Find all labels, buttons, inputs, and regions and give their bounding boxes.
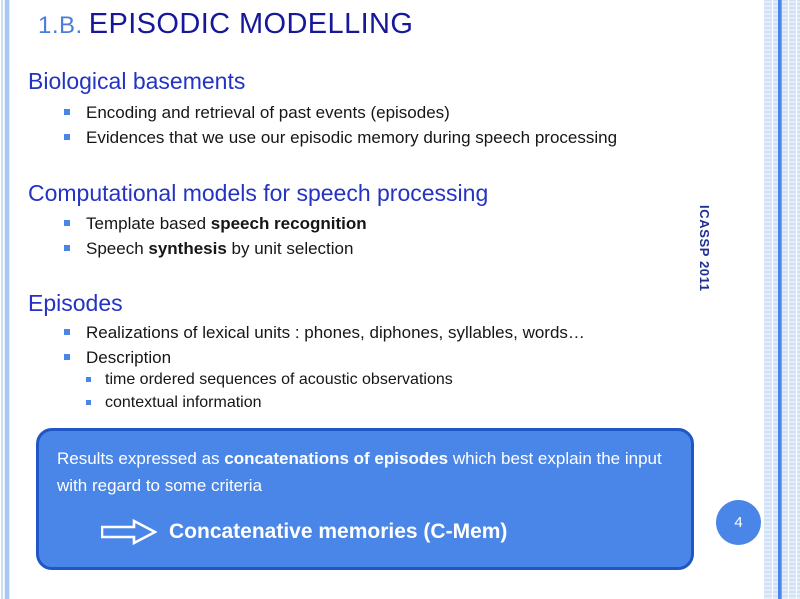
sub-list-item-label: contextual information: [105, 394, 262, 412]
bullet-square-icon: [64, 329, 70, 335]
stripe-4: [9, 0, 10, 599]
bullet-square-icon: [64, 220, 70, 226]
callout-body-text: Results expressed as concatenations of e…: [57, 445, 681, 499]
band-line-5: [796, 0, 797, 599]
callout-conclusion-row: Concatenative memories (C-Mem): [101, 519, 507, 545]
callout-text-prefix: Results expressed as: [57, 449, 224, 468]
list-item: Template based speech recognition: [64, 213, 367, 234]
band-line-4: [788, 0, 789, 599]
title-text: EPISODIC MODELLING: [89, 8, 414, 40]
bullet-square-icon: [64, 109, 70, 115]
bullet-square-icon: [64, 134, 70, 140]
list-item: Speech synthesis by unit selection: [64, 238, 353, 259]
page-title: 1.B.EPISODIC MODELLING: [38, 8, 413, 41]
right-block-arrow-icon: [101, 519, 157, 545]
band-line-3: [781, 0, 782, 599]
section-heading-biological: Biological basements: [28, 68, 245, 95]
list-item-label: Description: [86, 348, 171, 368]
sub-list-item: contextual information: [86, 394, 262, 412]
left-stripe-decoration: [0, 0, 12, 599]
section-heading-episodes: Episodes: [28, 290, 123, 317]
sub-list-item-label: time ordered sequences of acoustic obser…: [105, 371, 453, 389]
bullet-square-icon: [86, 377, 91, 382]
section-heading-computational: Computational models for speech processi…: [28, 180, 488, 207]
list-item-label: Realizations of lexical units : phones, …: [86, 323, 585, 343]
bullet-square-icon: [64, 354, 70, 360]
stripe-1: [1, 0, 3, 599]
right-band-decoration: [763, 0, 800, 599]
list-item: Evidences that we use our episodic memor…: [64, 127, 617, 148]
callout-text-bold: concatenations of episodes: [224, 449, 448, 468]
list-item-label: Encoding and retrieval of past events (e…: [86, 103, 450, 123]
list-item: Description: [64, 347, 171, 368]
list-item-text-prefix: Template based: [86, 214, 211, 233]
list-item-text-suffix: by unit selection: [227, 239, 354, 258]
list-item-text-bold: speech recognition: [211, 214, 367, 233]
list-item-label: Speech synthesis by unit selection: [86, 239, 353, 259]
bullet-square-icon: [64, 245, 70, 251]
list-item-label: Evidences that we use our episodic memor…: [86, 128, 617, 148]
page-number-badge: 4: [716, 500, 761, 545]
bullet-square-icon: [86, 400, 91, 405]
list-item: Realizations of lexical units : phones, …: [64, 322, 585, 343]
callout-box: Results expressed as concatenations of e…: [36, 428, 694, 570]
callout-conclusion-label: Concatenative memories (C-Mem): [169, 520, 507, 544]
band-line-1: [763, 0, 764, 599]
slide-canvas: ICASSP 2011 1.B.EPISODIC MODELLING Biolo…: [0, 0, 800, 599]
list-item-text-prefix: Speech: [86, 239, 148, 258]
sub-list-item: time ordered sequences of acoustic obser…: [86, 371, 453, 389]
band-line-2: [772, 0, 773, 599]
list-item-text-bold: synthesis: [148, 239, 226, 258]
list-item: Encoding and retrieval of past events (e…: [64, 102, 450, 123]
title-section-number: 1.B.: [38, 12, 83, 39]
list-item-label: Template based speech recognition: [86, 214, 367, 234]
conference-vertical-label: ICASSP 2011: [697, 205, 712, 292]
